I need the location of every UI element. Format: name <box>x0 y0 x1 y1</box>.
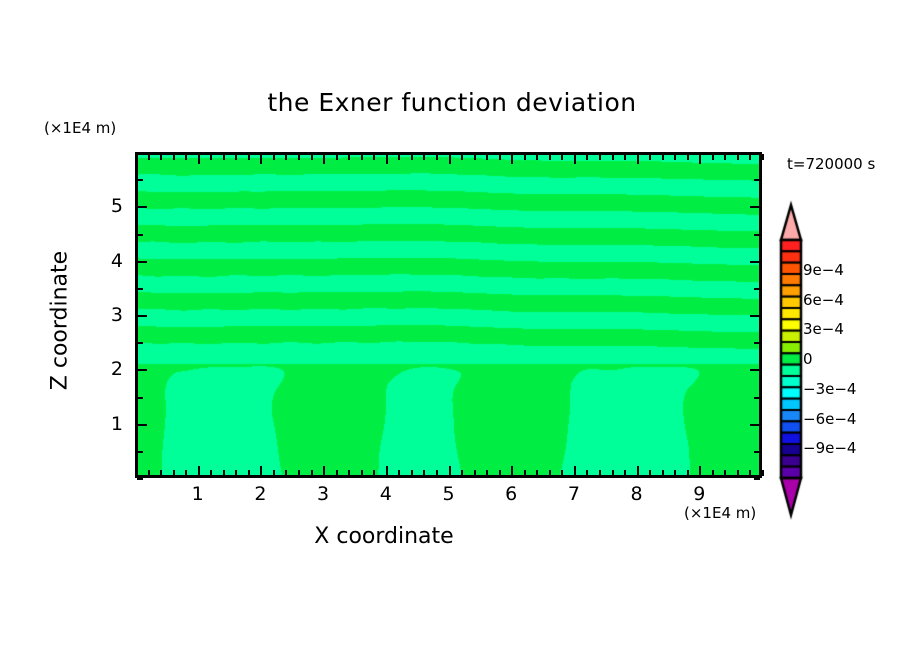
y-tick <box>137 234 143 236</box>
colorbar-swatches <box>775 200 895 520</box>
colorbar-tick-label: 6e−4 <box>803 291 844 309</box>
y-tick-right <box>750 369 760 371</box>
x-tick <box>724 470 726 476</box>
x-tick-top <box>348 154 350 160</box>
x-tick-top <box>612 154 614 160</box>
x-tick-top <box>248 154 250 160</box>
x-tick-top <box>298 154 300 160</box>
x-tick-top <box>549 154 551 160</box>
x-tick-label: 9 <box>684 483 714 505</box>
x-tick-top <box>173 154 175 160</box>
x-tick <box>198 466 200 476</box>
x-tick <box>712 470 714 476</box>
x-tick <box>311 470 313 476</box>
x-tick-top <box>712 154 714 160</box>
x-tick-top <box>586 154 588 160</box>
x-tick <box>687 470 689 476</box>
x-tick-label: 4 <box>371 483 401 505</box>
x-tick <box>298 470 300 476</box>
x-tick-top <box>674 154 676 160</box>
x-tick <box>373 470 375 476</box>
x-tick-top <box>185 154 187 160</box>
y-tick <box>137 315 147 317</box>
colorbar-tick-label: −9e−4 <box>803 439 856 457</box>
x-tick <box>260 466 262 476</box>
x-tick-top <box>411 154 413 160</box>
x-tick <box>323 466 325 476</box>
x-tick-top <box>724 154 726 160</box>
time-annotation: t=720000 s <box>787 155 875 173</box>
x-tick-top <box>223 154 225 160</box>
y-tick-right <box>754 478 760 480</box>
x-tick <box>586 470 588 476</box>
y-tick-right <box>750 424 760 426</box>
x-tick-top <box>436 154 438 160</box>
x-tick <box>348 470 350 476</box>
x-tick <box>449 466 451 476</box>
y-tick <box>137 261 147 263</box>
x-tick <box>637 466 639 476</box>
x-tick-top <box>285 154 287 160</box>
x-tick-top <box>511 154 513 164</box>
y-tick <box>137 397 143 399</box>
x-tick-top <box>599 154 601 160</box>
y-tick-right <box>750 315 760 317</box>
x-tick <box>248 470 250 476</box>
y-tick <box>137 152 143 154</box>
x-tick <box>423 470 425 476</box>
y-tick <box>137 451 143 453</box>
x-tick <box>649 470 651 476</box>
x-tick-top <box>398 154 400 160</box>
x-tick <box>160 470 162 476</box>
x-tick <box>662 470 664 476</box>
x-tick-label: 5 <box>434 483 464 505</box>
y-tick-right <box>754 397 760 399</box>
x-tick-top <box>524 154 526 160</box>
x-tick-top <box>561 154 563 160</box>
x-tick <box>474 470 476 476</box>
x-tick-top <box>574 154 576 164</box>
y-tick <box>137 478 143 480</box>
x-tick <box>699 466 701 476</box>
y-tick <box>137 369 147 371</box>
x-tick-top <box>386 154 388 164</box>
x-tick-top <box>373 154 375 160</box>
x-tick <box>549 470 551 476</box>
x-tick-top <box>148 154 150 160</box>
y-tick-label: 1 <box>93 413 123 435</box>
x-tick <box>173 470 175 476</box>
x-tick-top <box>461 154 463 160</box>
x-tick-label: 2 <box>245 483 275 505</box>
y-tick-right <box>754 152 760 154</box>
x-tick-top <box>499 154 501 160</box>
x-tick-top <box>361 154 363 160</box>
x-tick <box>223 470 225 476</box>
page-title: the Exner function deviation <box>0 88 904 117</box>
x-tick <box>737 470 739 476</box>
x-tick <box>574 466 576 476</box>
x-tick <box>148 470 150 476</box>
y-tick-right <box>750 261 760 263</box>
x-tick <box>361 470 363 476</box>
x-tick <box>185 470 187 476</box>
x-tick-top <box>637 154 639 164</box>
z-axis-unit-label: (×1E4 m) <box>44 119 116 137</box>
y-tick-label: 4 <box>93 250 123 272</box>
x-tick-top <box>536 154 538 160</box>
x-tick <box>235 470 237 476</box>
x-tick-top <box>749 154 751 160</box>
colorbar-tick-label: 3e−4 <box>803 320 844 338</box>
x-tick-top <box>486 154 488 160</box>
y-tick-right <box>754 288 760 290</box>
x-tick-top <box>649 154 651 160</box>
x-tick <box>561 470 563 476</box>
x-tick-label: 8 <box>622 483 652 505</box>
x-tick-top <box>323 154 325 164</box>
x-tick-label: 1 <box>183 483 213 505</box>
y-tick-right <box>754 451 760 453</box>
x-tick-top <box>135 154 137 160</box>
y-tick-right <box>750 206 760 208</box>
x-tick-top <box>160 154 162 160</box>
colorbar-tick-label: −3e−4 <box>803 380 856 398</box>
x-tick-top <box>423 154 425 160</box>
x-tick <box>599 470 601 476</box>
x-tick <box>624 470 626 476</box>
x-tick <box>210 470 212 476</box>
x-tick-top <box>311 154 313 160</box>
x-tick <box>135 470 137 476</box>
x-tick <box>386 466 388 476</box>
x-tick <box>285 470 287 476</box>
x-tick <box>461 470 463 476</box>
y-tick-right <box>754 234 760 236</box>
x-tick <box>612 470 614 476</box>
y-tick-right <box>754 342 760 344</box>
y-tick <box>137 424 147 426</box>
x-tick-top <box>260 154 262 164</box>
x-tick-top <box>273 154 275 160</box>
x-axis-unit-label: (×1E4 m) <box>684 504 756 522</box>
x-tick <box>499 470 501 476</box>
y-tick-label: 2 <box>93 358 123 380</box>
x-tick <box>536 470 538 476</box>
x-tick <box>486 470 488 476</box>
y-tick-right <box>754 179 760 181</box>
x-tick <box>762 470 764 476</box>
figure: the Exner function deviation (×1E4 m) t=… <box>0 0 904 654</box>
y-tick <box>137 288 143 290</box>
x-tick <box>674 470 676 476</box>
y-tick <box>137 206 147 208</box>
x-tick-top <box>474 154 476 160</box>
x-tick-top <box>624 154 626 160</box>
x-tick <box>411 470 413 476</box>
y-axis-title: Z coordinate <box>48 221 73 421</box>
colorbar-tick-label: 0 <box>803 350 813 368</box>
x-tick-label: 3 <box>308 483 338 505</box>
x-tick <box>398 470 400 476</box>
colorbar-tick-label: −6e−4 <box>803 410 856 428</box>
x-tick-top <box>662 154 664 160</box>
x-tick-top <box>699 154 701 164</box>
colorbar: 9e−46e−43e−40−3e−4−6e−4−9e−4 <box>775 200 895 520</box>
x-tick-top <box>737 154 739 160</box>
x-tick-label: 7 <box>559 483 589 505</box>
x-tick <box>511 466 513 476</box>
x-tick <box>273 470 275 476</box>
x-tick-top <box>687 154 689 160</box>
x-tick-label: 6 <box>496 483 526 505</box>
x-tick-top <box>762 154 764 160</box>
x-tick-top <box>235 154 237 160</box>
x-tick <box>336 470 338 476</box>
x-tick-top <box>336 154 338 160</box>
x-tick <box>749 470 751 476</box>
y-tick <box>137 342 143 344</box>
y-tick-label: 5 <box>93 195 123 217</box>
x-tick-top <box>449 154 451 164</box>
y-tick <box>137 179 143 181</box>
x-tick <box>436 470 438 476</box>
plot-area <box>135 152 762 478</box>
x-tick <box>524 470 526 476</box>
y-tick-label: 3 <box>93 304 123 326</box>
contour-field <box>138 155 762 478</box>
x-tick-top <box>198 154 200 164</box>
colorbar-tick-label: 9e−4 <box>803 261 844 279</box>
x-axis-title: X coordinate <box>0 524 768 549</box>
x-tick-top <box>210 154 212 160</box>
